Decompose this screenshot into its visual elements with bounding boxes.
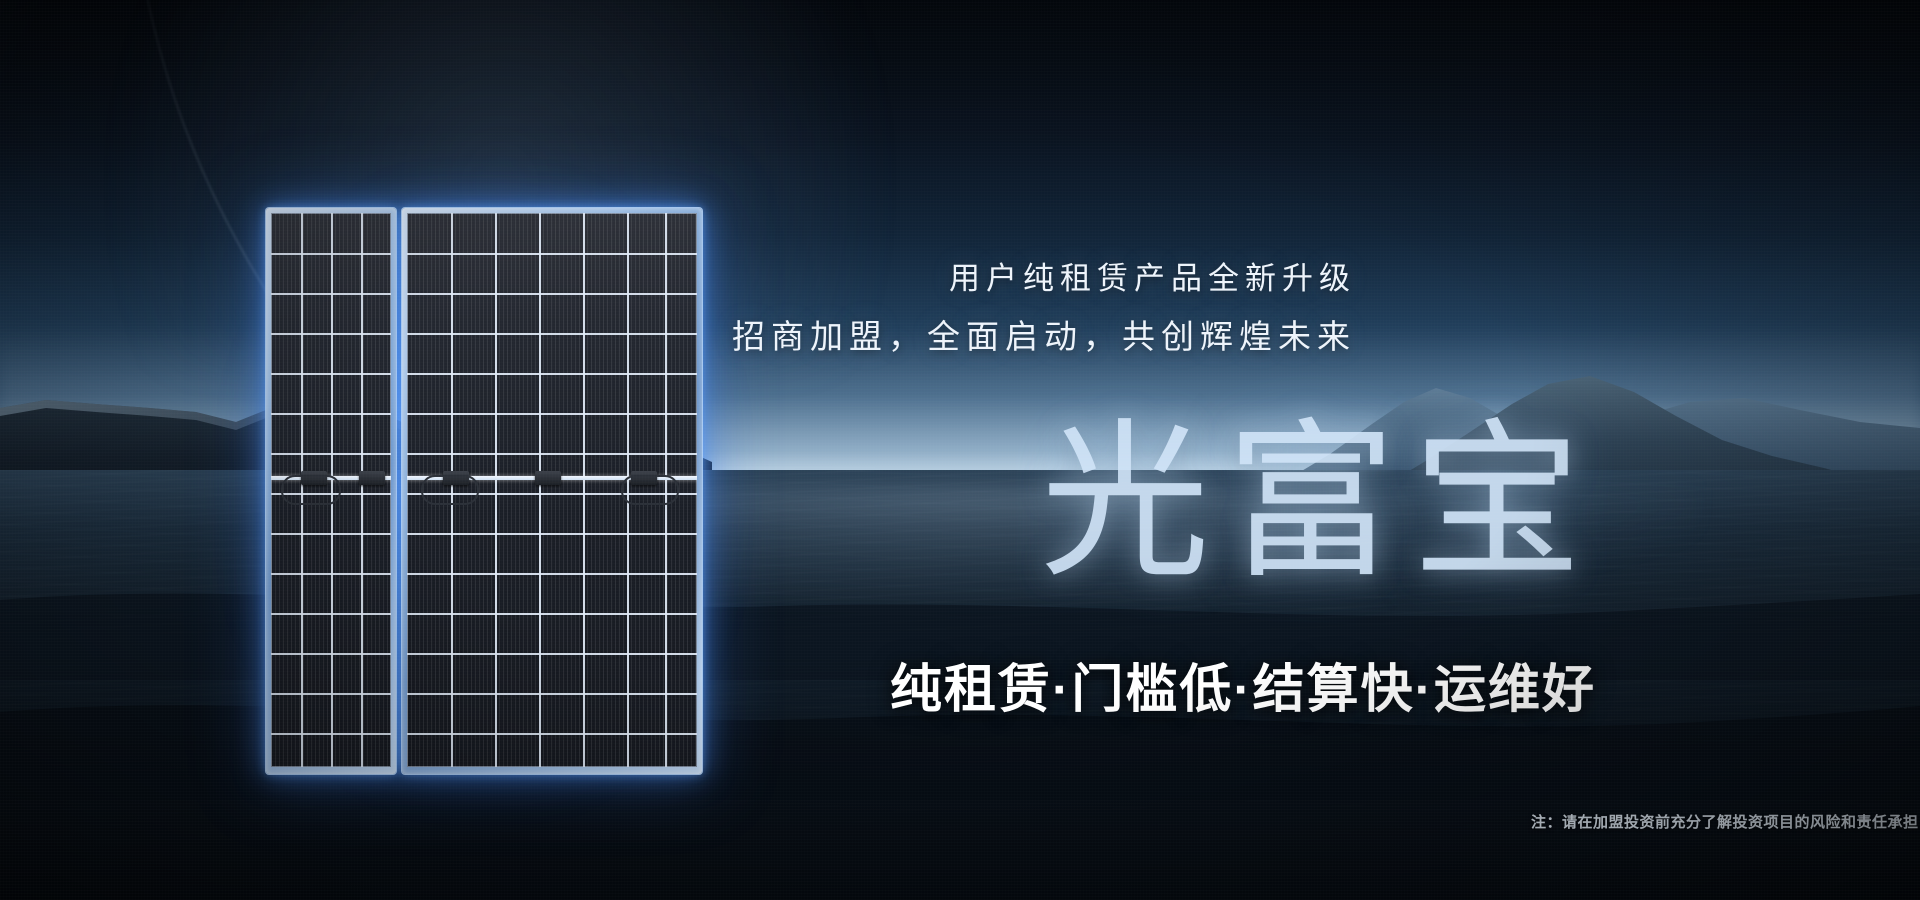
cable-loop [421, 475, 479, 505]
solar-panel-right [402, 208, 702, 774]
disclaimer-note: 注：请在加盟投资前充分了解投资项目的风险和责任承担 [1531, 813, 1919, 833]
tagline-text: 纯租赁·门槛低·结算快·运维好 [890, 657, 1596, 723]
headline-line-1: 用户纯租赁产品全新升级 [949, 260, 1356, 298]
banner-stage: 用户纯租赁产品全新升级 招商加盟，全面启动，共创辉煌未来 光富宝 纯租赁·门槛低… [0, 0, 1920, 900]
headline-line-2: 招商加盟，全面启动，共创辉煌未来 [732, 317, 1356, 357]
junction-box [535, 471, 561, 485]
solar-panel-module[interactable] [266, 208, 702, 774]
solar-panel-left [266, 208, 396, 774]
solar-cells-right [407, 213, 697, 767]
cable-loop [281, 475, 341, 505]
junction-box [359, 471, 385, 485]
cable-loop [621, 475, 679, 505]
solar-cells-left [271, 213, 391, 767]
